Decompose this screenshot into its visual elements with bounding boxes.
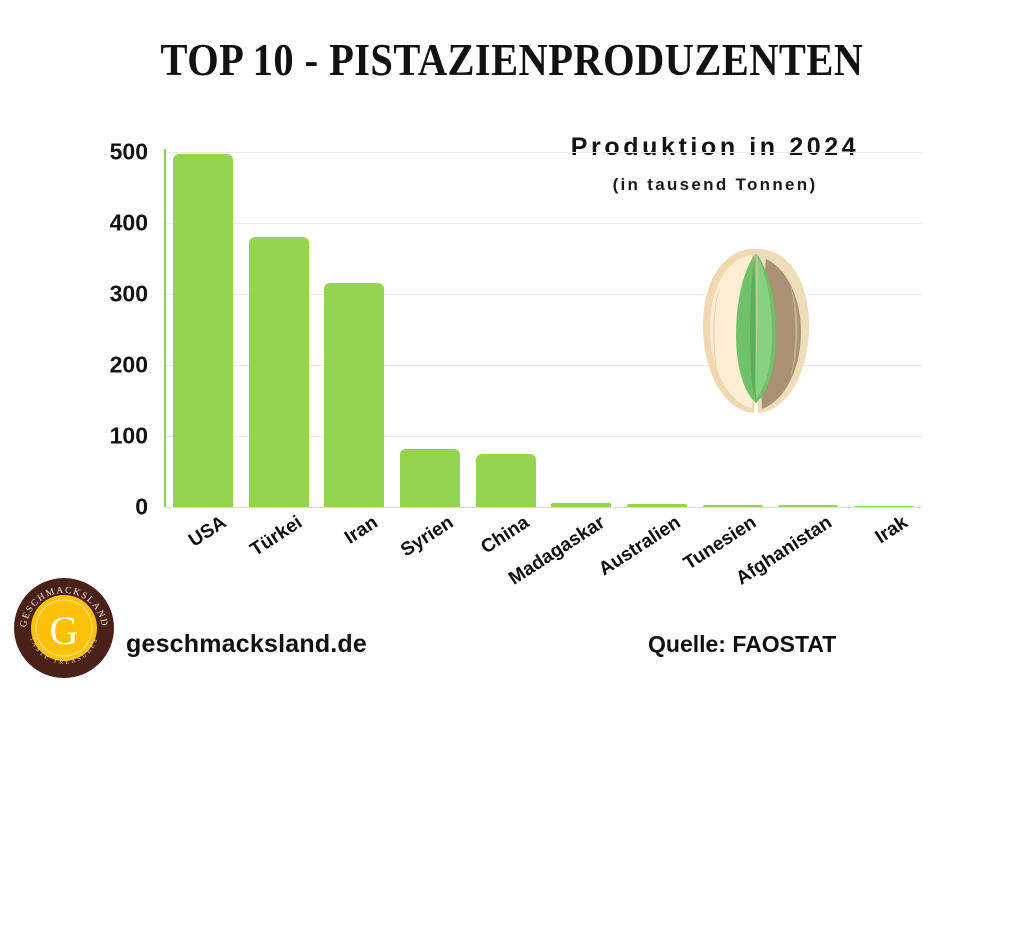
source-note: Quelle: FAOSTAT	[648, 631, 836, 658]
y-axis-tick-label: 400	[110, 210, 148, 237]
y-axis-tick-label: 300	[110, 281, 148, 308]
bar[interactable]	[854, 506, 914, 508]
y-axis-tick-label: 200	[110, 352, 148, 379]
x-axis-tick-label: Tunesien	[259, 512, 761, 848]
bar[interactable]	[476, 454, 536, 507]
y-axis-ticks: 0100200300400500	[0, 152, 160, 507]
y-axis-tick-label: 0	[135, 494, 148, 521]
bar[interactable]	[778, 505, 838, 507]
page-title: TOP 10 - PISTAZIENPRODUZENTEN	[61, 36, 962, 84]
bar[interactable]	[173, 154, 233, 507]
bar[interactable]	[249, 237, 309, 507]
bar[interactable]	[324, 283, 384, 507]
bar[interactable]	[703, 505, 763, 507]
y-axis-tick-label: 500	[110, 139, 148, 166]
x-axis-tick-label: Afghanistan	[271, 512, 836, 890]
bar[interactable]	[400, 449, 460, 507]
bar[interactable]	[627, 504, 687, 507]
x-axis-tick-label: USA	[174, 512, 231, 560]
logo-monogram: G	[50, 608, 79, 653]
pistachio-icon	[690, 243, 822, 418]
y-axis-tick-label: 100	[110, 423, 148, 450]
brand-logo: GESCHMACKSLAND TASTE TREASURES G	[12, 576, 116, 680]
bar[interactable]	[551, 503, 611, 507]
site-name: geschmacksland.de	[126, 630, 367, 659]
x-axis-labels: USATürkeiIranSyrienChinaMadagaskarAustra…	[165, 512, 922, 622]
